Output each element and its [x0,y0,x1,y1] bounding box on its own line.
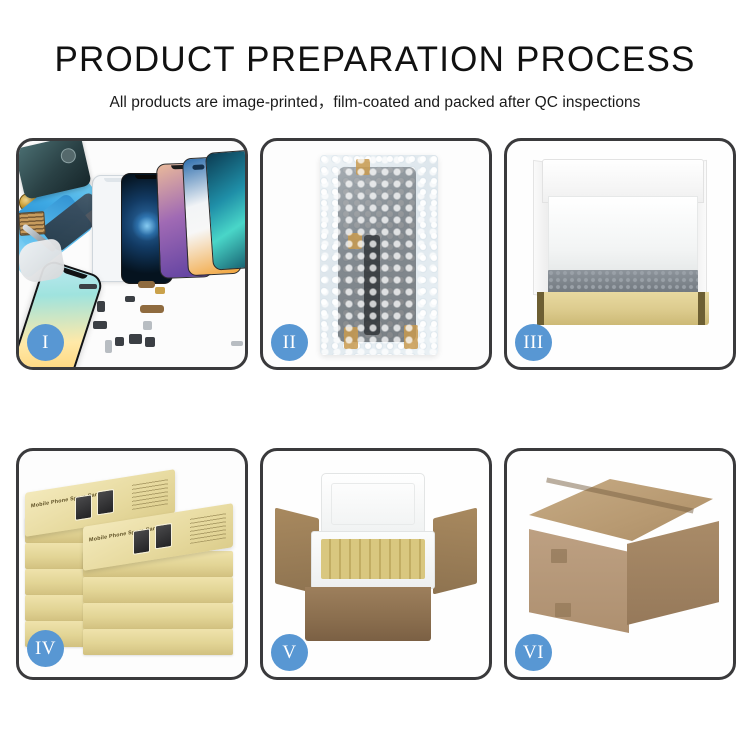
retail-box-icon [83,629,233,655]
small-part-icon [105,340,112,353]
retail-box-icon [83,603,233,629]
small-part-icon [231,341,243,346]
tape-icon [348,233,362,249]
box-edge-icon [537,292,544,325]
flex-cable-icon [140,305,164,313]
process-steps-grid: I II [16,138,736,680]
bubble-wrapped-contents-icon [548,270,698,294]
step-panel-2: II [260,138,492,370]
step-badge-5: V [271,634,308,671]
step-panel-1: I [16,138,248,370]
small-part-icon [155,287,165,294]
small-part-icon [115,337,124,346]
page-title: PRODUCT PREPARATION PROCESS [0,42,750,77]
packed-retail-boxes-icon [321,539,425,579]
small-part-icon [145,337,155,347]
carton-flap-right-icon [433,508,477,595]
small-part-icon [125,296,135,302]
foam-sheet-icon [548,196,698,274]
step-panel-5: V [260,448,492,680]
box-window-icon [155,523,172,550]
step-panel-6: VI [504,448,736,680]
yellow-box-front-icon [537,292,709,325]
small-part-icon [129,334,142,344]
retail-box-icon [83,577,233,603]
tape-icon [404,325,418,349]
small-part-icon [93,321,107,329]
box-window-icon [133,528,150,555]
phone-teal-icon [205,149,245,270]
page-subtitle: All products are image-printed，film-coat… [0,90,750,112]
box-window-icon [75,494,92,521]
step-badge-6: VI [515,634,552,671]
box-edge-icon [698,292,705,325]
step-badge-3: III [515,324,552,361]
box-window-icon [97,489,114,516]
step-badge-1: I [27,324,64,361]
box-spec-text-icon [132,478,168,510]
product-preparation-page: PRODUCT PREPARATION PROCESS All products… [0,0,750,750]
foam-box-lid-icon [321,473,425,535]
step-panel-3: III [504,138,736,370]
carton-tape-icon [551,549,567,563]
carton-tape-icon [555,603,571,617]
step-badge-2: II [271,324,308,361]
step-badge-4: IV [27,630,64,667]
tape-icon [344,327,358,349]
small-part-icon [97,301,105,312]
carton-front-icon [305,587,431,641]
small-part-icon [143,321,152,330]
wrapped-flex-cable-icon [364,235,380,335]
small-part-icon [138,281,155,288]
small-part-icon [79,284,97,289]
page-header: PRODUCT PREPARATION PROCESS All products… [0,0,750,112]
bubble-wrap-bag-icon [320,155,438,355]
tape-icon [356,159,370,175]
box-spec-text-icon [190,512,226,544]
carton-side-face-icon [627,521,719,625]
carton-front-face-icon [529,529,629,633]
step-panel-4: Mobile Phone Spare Parts Mobile Phone Sp… [16,448,248,680]
